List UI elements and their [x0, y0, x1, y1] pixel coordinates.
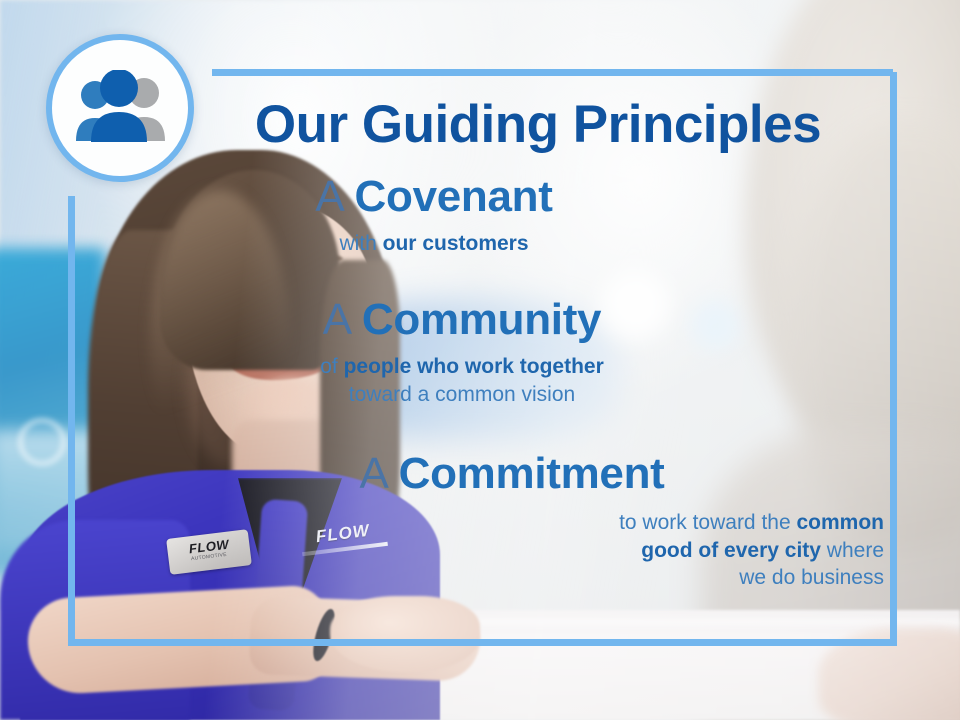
principle-subtext: to work toward the common good of every …: [128, 509, 896, 592]
poster-canvas: FLOW AUTOMOTIVE FLOW: [0, 0, 960, 720]
principle-keyword: Community: [362, 295, 601, 344]
principle-covenant: A Covenant with our customers: [68, 175, 896, 258]
subtext-line: to work toward the common: [128, 509, 884, 537]
principle-subtext: with our customers: [68, 230, 800, 258]
principle-keyword: Covenant: [355, 172, 553, 221]
principle-article: A: [315, 172, 342, 221]
subtext-line: with our customers: [339, 232, 528, 255]
subtext-line: we do business: [128, 564, 884, 592]
principle-article: A: [323, 295, 350, 344]
principle-headline: A Covenant: [68, 175, 800, 220]
subtext-line: good of every city where: [128, 537, 884, 565]
subtext-line: toward a common vision: [68, 381, 856, 409]
page-title: Our Guiding Principles: [218, 98, 858, 151]
principle-headline: A Community: [68, 298, 856, 343]
principle-community: A Community of people who work together …: [68, 298, 896, 408]
principle-keyword: Commitment: [399, 449, 665, 498]
principle-article: A: [359, 449, 386, 498]
principle-headline: A Commitment: [128, 452, 896, 497]
principle-commitment: A Commitment to work toward the common g…: [68, 452, 896, 592]
principle-subtext: of people who work together toward a com…: [68, 353, 856, 408]
subtext-line: of people who work together: [68, 353, 856, 381]
text-content: Our Guiding Principles A Covenant with o…: [68, 70, 896, 646]
